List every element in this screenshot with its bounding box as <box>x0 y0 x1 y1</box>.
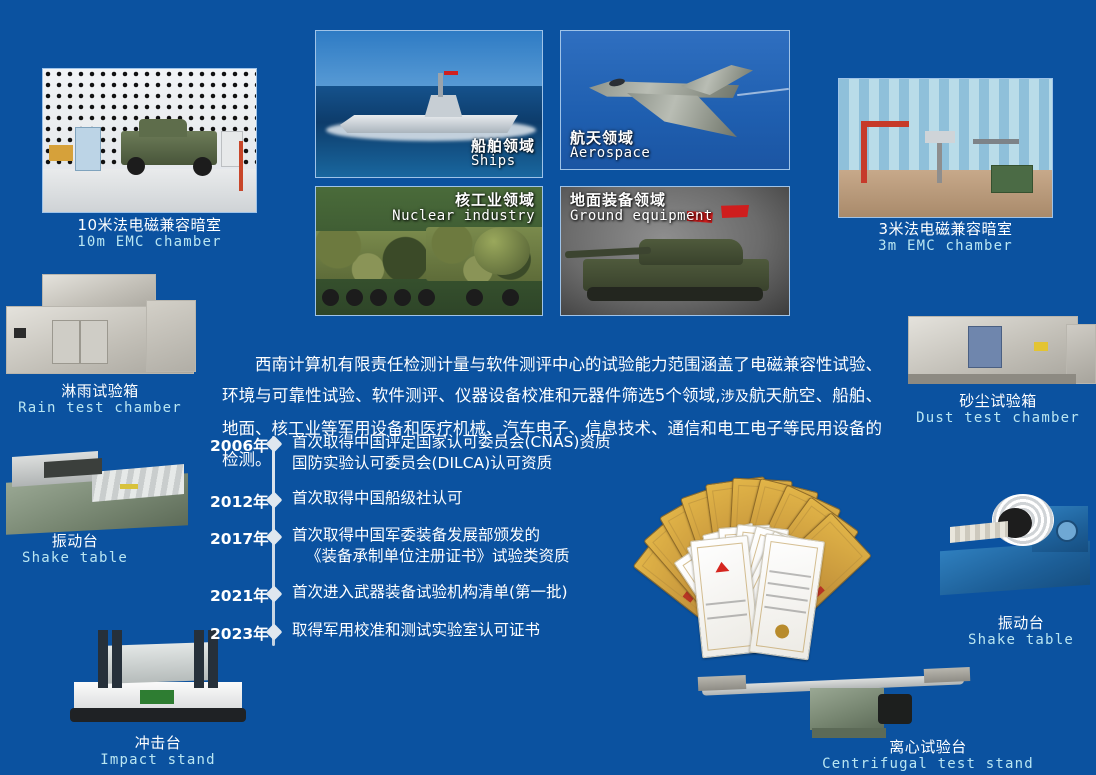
caption-dust-chamber-en: Dust test chamber <box>900 410 1096 427</box>
overlay-aerospace-en: Aerospace <box>570 146 650 162</box>
photo-rain-chamber <box>0 272 200 380</box>
wheel <box>418 289 435 306</box>
timeline-year: 2023年 <box>210 622 266 644</box>
log-periodic-antenna <box>973 139 1019 144</box>
drive-motor <box>878 694 912 724</box>
antenna-head <box>925 131 955 143</box>
caption-centrifugal-stand-zh: 离心试验台 <box>760 738 1096 756</box>
photo-emc-10m <box>42 68 257 213</box>
overlay-nuclear-en: Nuclear industry <box>392 209 535 225</box>
tank-turret <box>639 239 743 265</box>
ship-flag <box>444 71 458 75</box>
caption-shake-table-left-en: Shake table <box>0 550 150 567</box>
timeline-text: 取得军用校准和测试实验室认可证书 <box>292 620 632 641</box>
wheel <box>322 289 339 306</box>
timeline-text: 首次取得中国评定国家认可委员会(CNAS)资质 国防实验认可委员会(DILCA)… <box>292 432 632 474</box>
wheel <box>346 289 363 306</box>
wheel-row <box>316 289 543 309</box>
caption-emc-10m-zh: 10米法电磁兼容暗室 <box>42 216 257 234</box>
photo-ground-equipment: 地面装备领域 Ground equipment <box>560 186 790 316</box>
antenna-mast <box>239 141 243 191</box>
dust-chamber-door <box>968 326 1002 368</box>
timeline-year: 2012年 <box>210 490 266 512</box>
caption-shake-table-left-zh: 振动台 <box>0 532 150 550</box>
photo-emc-3m <box>838 78 1053 218</box>
photo-dust-chamber <box>906 308 1096 394</box>
intro-paragraph-small: 涉及 <box>721 389 749 405</box>
wheel <box>502 289 519 306</box>
overlay-nuclear-zh: 核工业领域 <box>392 192 535 209</box>
timeline-line: 国防实验认可委员会(DILCA)认可资质 <box>292 453 632 474</box>
photo-shake-table-left-frame <box>0 444 196 544</box>
caption-centrifugal-stand-en: Centrifugal test stand <box>760 756 1096 773</box>
caption-impact-stand: 冲击台 Impact stand <box>60 734 256 769</box>
milestone-timeline: 2006年 首次取得中国评定国家认可委员会(CNAS)资质 国防实验认可委员会(… <box>210 432 630 650</box>
chamber-door <box>52 320 80 364</box>
photo-nuclear: 核工业领域 Nuclear industry <box>315 186 543 316</box>
timeline-year: 2017年 <box>210 527 266 549</box>
photo-shake-table-left <box>0 444 196 544</box>
caption-emc-10m-en: 10m EMC chamber <box>42 234 257 251</box>
vehicle-wheel <box>127 157 145 175</box>
caption-shake-table-right: 振动台 Shake table <box>946 614 1096 649</box>
equipment-pallet <box>49 145 73 161</box>
caption-emc-3m: 3米法电磁兼容暗室 3m EMC chamber <box>838 220 1053 255</box>
overlay-ships-en: Ships <box>471 154 535 170</box>
control-dial <box>1056 520 1078 542</box>
centrifuge-drive-housing <box>810 688 884 730</box>
photo-rain-chamber-frame <box>0 272 200 380</box>
chamber-floor <box>43 169 256 212</box>
antenna-boom-red <box>861 121 909 127</box>
caption-emc-3m-en: 3m EMC chamber <box>838 238 1053 255</box>
timeline-line: 取得军用校准和测试实验室认可证书 <box>292 620 632 641</box>
timeline-text: 首次进入武器装备试验机构清单(第一批) <box>292 582 632 603</box>
tank-flag <box>721 205 749 218</box>
photo-shake-table-right-frame <box>936 484 1096 612</box>
timeline-year: 2021年 <box>210 584 266 606</box>
caption-dust-chamber-zh: 砂尘试验箱 <box>900 392 1096 410</box>
vehicle-wheel <box>193 157 212 176</box>
photo-dust-chamber-frame <box>906 308 1096 394</box>
photo-ships: 船舶领域 Ships <box>315 30 543 178</box>
caption-rain-chamber: 淋雨试验箱 Rain test chamber <box>0 382 200 417</box>
machine-base <box>812 728 886 738</box>
ship-hull <box>340 115 518 133</box>
timeline-text: 首次取得中国军委装备发展部颁发的 《装备承制单位注册证书》试验类资质 <box>292 525 632 567</box>
timeline-line: 《装备承制单位注册证书》试验类资质 <box>292 546 632 567</box>
caption-impact-stand-en: Impact stand <box>60 752 256 769</box>
poster-root: 10米法电磁兼容暗室 10m EMC chamber 3米法电磁兼容暗室 3m … <box>0 0 1096 775</box>
overlay-ground-equipment-en: Ground equipment <box>570 209 713 225</box>
test-cabinet <box>75 127 101 171</box>
overlay-ground-equipment-zh: 地面装备领域 <box>570 192 713 209</box>
caption-dust-chamber: 砂尘试验箱 Dust test chamber <box>900 392 1096 427</box>
nameplate <box>140 690 174 704</box>
shaker-head-expander <box>950 521 1008 543</box>
tank-tracks <box>587 287 763 301</box>
control-window <box>14 328 26 338</box>
caption-shake-table-right-en: Shake table <box>946 632 1096 649</box>
antenna-mast-red <box>861 121 867 183</box>
timeline-year: 2006年 <box>210 434 266 456</box>
overlay-label-ships: 船舶领域 Ships <box>471 138 535 170</box>
tripod-stand <box>937 137 942 183</box>
certificates-fan <box>585 462 905 632</box>
caption-centrifugal-stand: 离心试验台 Centrifugal test stand <box>760 738 1096 773</box>
overlay-label-nuclear: 核工业领域 Nuclear industry <box>392 192 535 224</box>
timeline-line: 首次取得中国军委装备发展部颁发的 <box>292 525 632 546</box>
guide-column <box>98 630 108 688</box>
caption-rain-chamber-zh: 淋雨试验箱 <box>0 382 200 400</box>
impact-foundation <box>70 708 246 722</box>
missile-nosecone <box>474 227 530 275</box>
timeline-line: 首次取得中国评定国家认可委员会(CNAS)资质 <box>292 432 632 453</box>
overlay-ships-zh: 船舶领域 <box>471 138 535 155</box>
caption-rain-chamber-en: Rain test chamber <box>0 400 200 417</box>
caption-shake-table-left: 振动台 Shake table <box>0 532 150 567</box>
photo-shake-table-right <box>936 484 1096 612</box>
overlay-aerospace-zh: 航天领域 <box>570 130 650 147</box>
wheel <box>466 289 483 306</box>
guide-column <box>194 630 204 688</box>
timeline-line: 首次取得中国船级社认可 <box>292 488 632 509</box>
photo-emc-10m-frame <box>42 68 257 213</box>
ship-mast <box>438 73 443 97</box>
caption-impact-stand-zh: 冲击台 <box>60 734 256 752</box>
chamber-side-panel <box>146 300 196 372</box>
guide-column <box>112 630 122 688</box>
wheel <box>394 289 411 306</box>
arm-end-platform-right <box>924 667 971 683</box>
caption-emc-3m-zh: 3米法电磁兼容暗室 <box>838 220 1053 238</box>
photo-centrifugal-stand-frame <box>692 656 974 744</box>
timeline-text: 首次取得中国船级社认可 <box>292 488 632 509</box>
photo-centrifugal-stand <box>692 656 974 744</box>
warning-label <box>1034 342 1048 351</box>
overlay-label-ground-equipment: 地面装备领域 Ground equipment <box>570 192 713 224</box>
wheel <box>370 289 387 306</box>
arm-end-platform-left <box>698 675 747 691</box>
overlay-label-aerospace: 航天领域 Aerospace <box>570 130 650 162</box>
photo-aerospace: 航天领域 Aerospace <box>560 30 790 170</box>
caption-emc-10m: 10米法电磁兼容暗室 10m EMC chamber <box>42 216 257 251</box>
green-equipment-box <box>991 165 1033 193</box>
photo-emc-3m-frame <box>838 78 1053 218</box>
chamber-door <box>80 320 108 364</box>
caption-shake-table-right-zh: 振动台 <box>946 614 1096 632</box>
chamber-base <box>908 374 1076 384</box>
vehicle-cab <box>139 119 187 137</box>
yellow-marker <box>120 484 138 489</box>
timeline-line: 首次进入武器装备试验机构清单(第一批) <box>292 582 632 603</box>
